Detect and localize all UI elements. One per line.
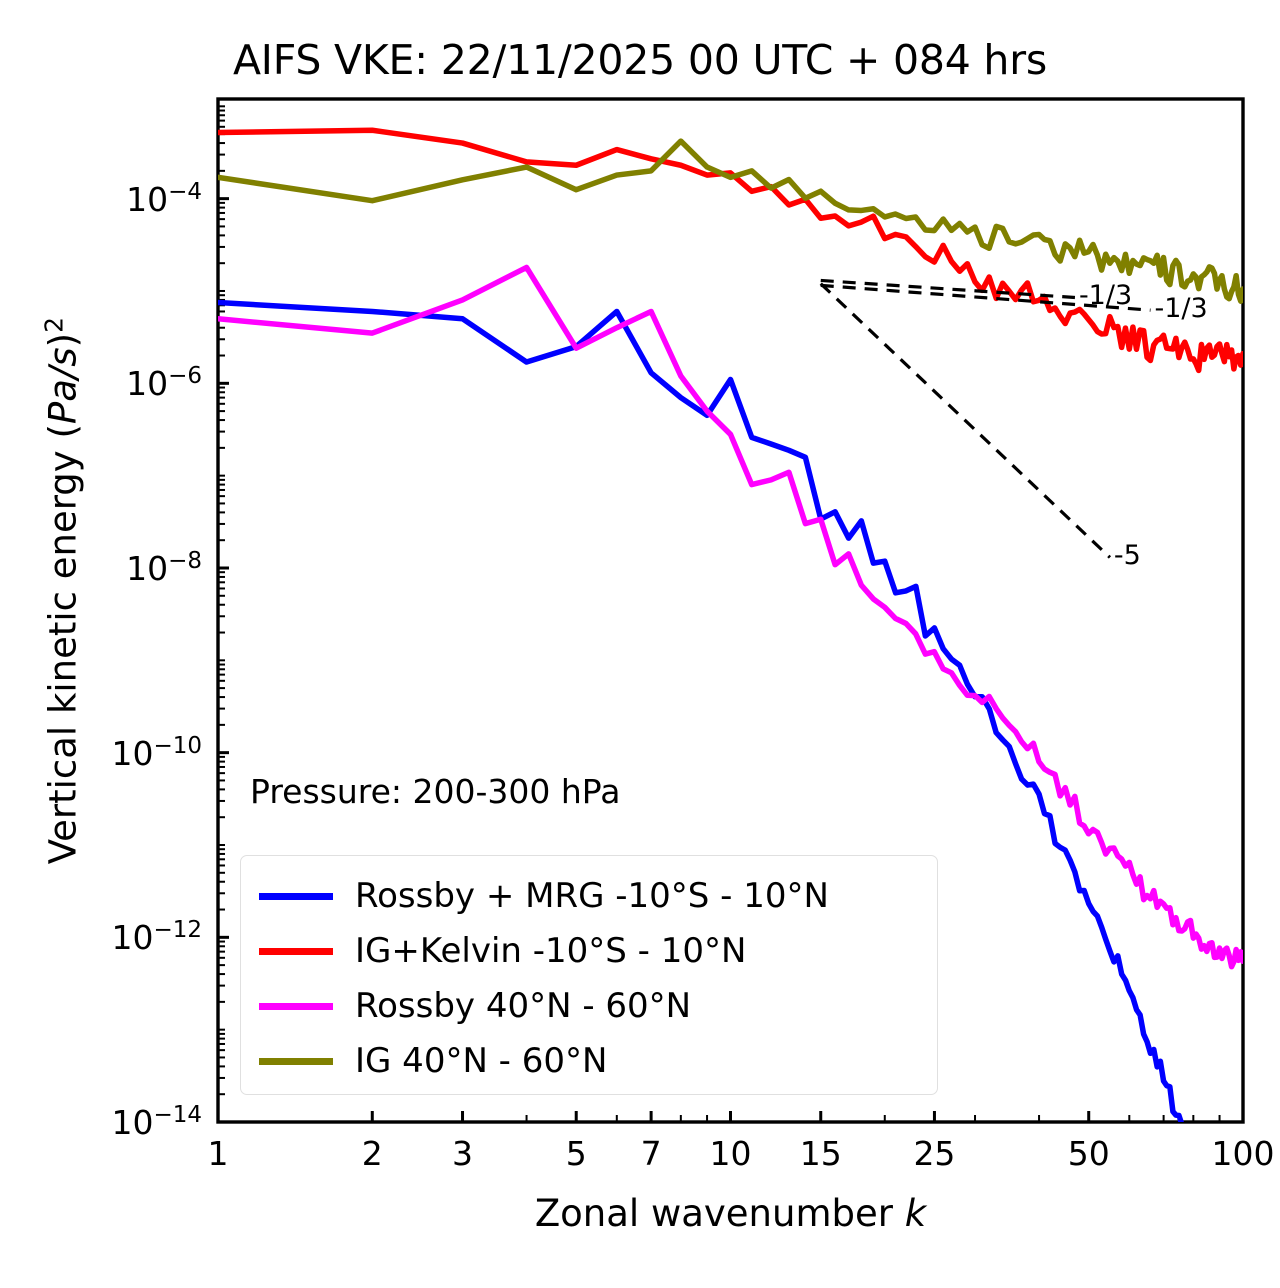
x-tick-label: 5 [566, 1134, 587, 1173]
x-tick-label: 100 [1212, 1134, 1275, 1173]
reference-line-label: -1/3 [1155, 293, 1208, 324]
legend-color-swatch [259, 1003, 333, 1010]
x-axis-label-symbol: k [905, 1192, 926, 1235]
x-tick-label: 25 [913, 1134, 955, 1173]
x-axis-label: Zonal wavenumber k [218, 1192, 1243, 1235]
reference-lines [821, 280, 1151, 557]
legend: Rossby + MRG -10°S - 10°NIG+Kelvin -10°S… [240, 855, 938, 1095]
y-axis-label-units: Pa/s [42, 347, 85, 424]
legend-item[interactable]: Rossby + MRG -10°S - 10°N [259, 868, 829, 924]
x-tick-label: 15 [800, 1134, 842, 1173]
y-axis-label: Vertical kinetic energy (Pa/s)2 [39, 221, 84, 961]
legend-item[interactable]: IG 40°N - 60°N [259, 1033, 607, 1089]
reference-line-label: -1/3 [1079, 280, 1132, 311]
x-axis-label-prefix: Zonal wavenumber [535, 1192, 905, 1235]
pressure-annotation: Pressure: 200-300 hPa [250, 772, 620, 811]
y-axis-label-exponent: 2 [39, 317, 68, 333]
y-axis-label-suffix: ) [42, 333, 85, 347]
legend-item-label: IG 40°N - 60°N [355, 1044, 607, 1078]
reference-line-label: -5 [1114, 540, 1141, 571]
y-tick-label: 10−4 [30, 179, 202, 219]
y-axis-label-prefix: Vertical kinetic energy ( [42, 424, 85, 864]
x-tick-label: 1 [208, 1134, 229, 1173]
reference-line [821, 280, 1075, 297]
series-line [218, 141, 1243, 301]
figure-canvas: AIFS VKE: 22/11/2025 00 UTC + 084 hrs 10… [0, 0, 1280, 1288]
legend-color-swatch [259, 948, 333, 955]
legend-item[interactable]: IG+Kelvin -10°S - 10°N [259, 923, 746, 979]
x-tick-label: 7 [641, 1134, 662, 1173]
legend-item-label: IG+Kelvin -10°S - 10°N [355, 934, 746, 968]
legend-item-label: Rossby 40°N - 60°N [355, 989, 691, 1023]
legend-color-swatch [259, 893, 333, 900]
x-tick-label: 50 [1068, 1134, 1110, 1173]
legend-item-label: Rossby + MRG -10°S - 10°N [355, 879, 829, 913]
legend-color-swatch [259, 1058, 333, 1065]
x-tick-label: 2 [362, 1134, 383, 1173]
legend-item[interactable]: Rossby 40°N - 60°N [259, 978, 691, 1034]
x-tick-label: 3 [452, 1134, 473, 1173]
y-tick-label: 10−14 [30, 1102, 202, 1142]
x-tick-label: 10 [710, 1134, 752, 1173]
